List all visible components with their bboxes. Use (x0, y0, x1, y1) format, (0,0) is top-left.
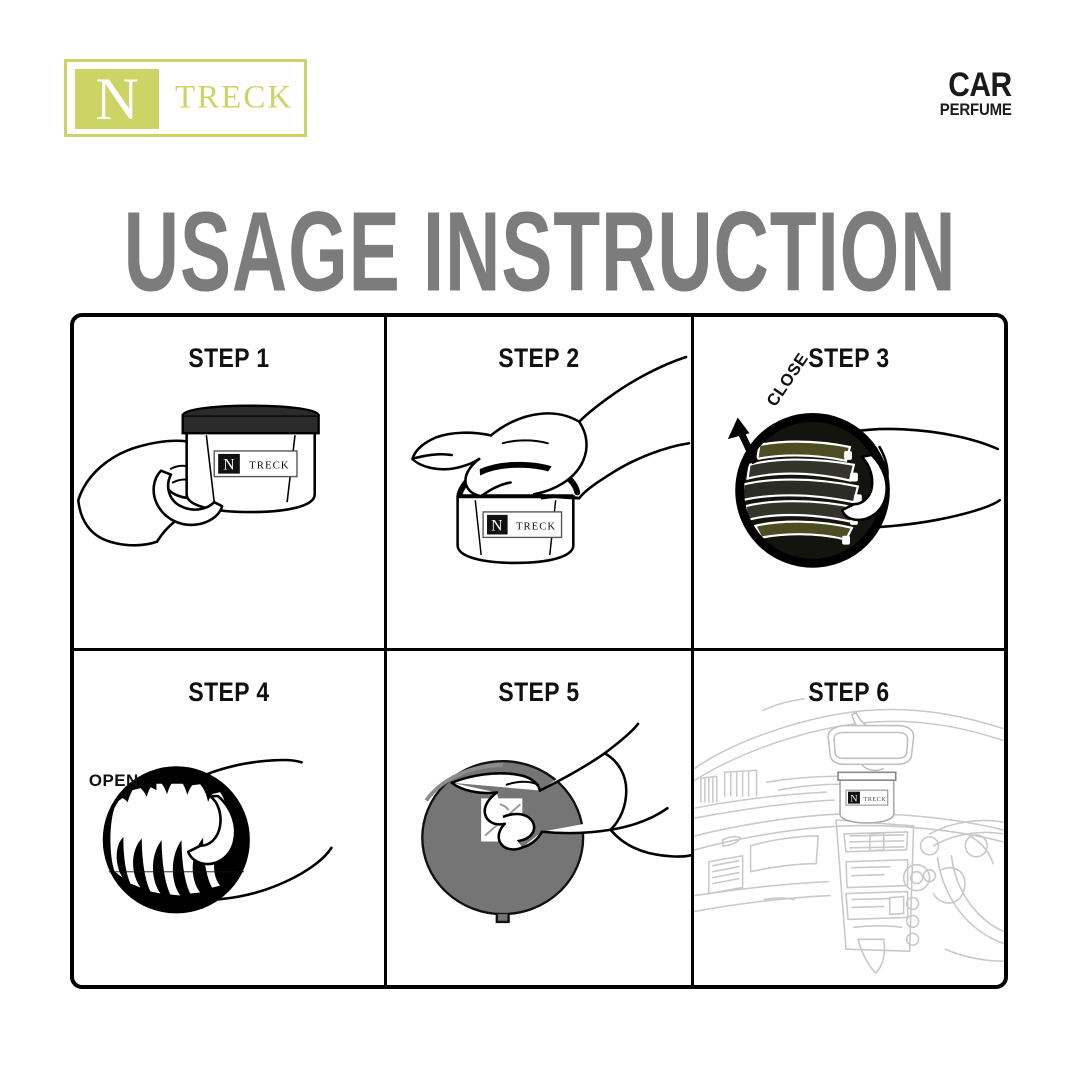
step-cell-4: STEP 4 (74, 651, 384, 985)
mounted-product: N TRECK (838, 772, 896, 823)
step-2-title: STEP 2 (410, 343, 668, 374)
step-cell-6: STEP 6 (694, 651, 1004, 985)
step-6-title: STEP 6 (717, 677, 981, 708)
svg-text:N: N (491, 518, 502, 535)
step-5-title: STEP 5 (410, 677, 668, 708)
step-cell-1: STEP 1 (74, 317, 384, 651)
brand-wordmark: TRECK (175, 80, 293, 117)
steps-grid: STEP 1 (70, 313, 1008, 989)
car-perfume-logo-line2: PERFUME (940, 102, 1012, 118)
vented-cap-closed (740, 417, 886, 563)
svg-text:TRECK: TRECK (516, 521, 556, 533)
page-header: N TRECK CAR PERFUME (0, 0, 1080, 170)
page-title: USAGE INSTRUCTION (108, 196, 972, 309)
product-tin: N TRECK (458, 496, 574, 563)
step-1-title: STEP 1 (97, 343, 361, 374)
step-3-title: STEP 3 (717, 343, 981, 374)
brand-logo: N TRECK (64, 59, 307, 137)
svg-text:TRECK: TRECK (864, 797, 887, 803)
brand-mark-letter: N (75, 69, 159, 129)
step-4-title: STEP 4 (97, 677, 361, 708)
svg-text:N: N (223, 457, 235, 474)
step-cell-5: STEP 5 (384, 651, 694, 985)
product-tin: N TRECK (183, 406, 319, 512)
car-perfume-logo-line1: CAR (940, 70, 1012, 101)
step-cell-2: STEP 2 N TRECK (384, 317, 694, 651)
brand-mark-box: N (75, 69, 159, 129)
open-label: OPEN (89, 771, 139, 790)
step-cell-3: STEP 3 (694, 317, 1004, 651)
svg-text:N: N (850, 794, 857, 805)
svg-text:TRECK: TRECK (249, 460, 289, 472)
car-perfume-logo: CAR PERFUME (930, 70, 1012, 118)
